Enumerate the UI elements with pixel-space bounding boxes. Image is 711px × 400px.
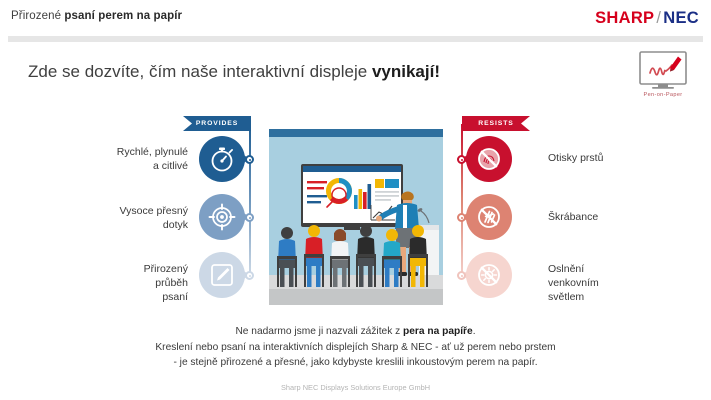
resists-node-3	[457, 271, 466, 280]
page-title: Zde se dozvíte, čím naše interaktivní di…	[28, 62, 440, 82]
provides-icon-pencil	[199, 252, 245, 298]
body-line1-bold: pera na papíře	[403, 326, 473, 337]
body-copy: Ne nadarmo jsme ji nazvali zážitek z per…	[60, 324, 651, 371]
provides-node-2	[245, 213, 254, 222]
label-line: dotyk	[58, 218, 188, 232]
header-divider	[8, 36, 703, 42]
provides-connector-rail	[249, 124, 251, 276]
fingerprint-blocked-icon	[475, 145, 503, 173]
scratches-blocked-icon	[475, 203, 503, 231]
nec-wordmark: NEC	[663, 9, 699, 27]
sun-glare-blocked-icon	[475, 261, 503, 289]
label-line: a citlivé	[58, 159, 188, 173]
label-line: Otisky prstů	[548, 151, 678, 165]
label-line: Rychlé, plynulé	[58, 145, 188, 159]
pencil-square-icon	[208, 261, 236, 289]
pen-on-paper-badge: Pen-on-Paper	[624, 49, 702, 105]
provides-label-writing: Přirozený průběh psaní	[58, 262, 188, 304]
slide-canvas: Přirozené psaní perem na papír SHARP/NEC…	[0, 0, 711, 400]
label-line: průběh	[58, 276, 188, 290]
resists-node-1	[457, 155, 466, 164]
classroom-presentation-illustration	[269, 129, 443, 305]
resists-label-glare: Oslnění venkovním světlem	[548, 262, 678, 304]
header-title: Přirozené psaní perem na papír	[11, 10, 182, 22]
label-line: světlem	[548, 290, 678, 304]
provides-banner: PROVIDES	[183, 116, 251, 131]
target-icon	[208, 203, 236, 231]
label-line: Vysoce přesný	[58, 204, 188, 218]
resists-icon-scratches	[466, 194, 512, 240]
resists-connector-rail	[461, 124, 463, 276]
sharp-nec-logo: SHARP/NEC	[595, 9, 699, 28]
resists-node-2	[457, 213, 466, 222]
label-line: venkovním	[548, 276, 678, 290]
resists-icon-glare	[466, 252, 512, 298]
body-line1-tail: .	[473, 326, 476, 337]
resists-label-fingerprints: Otisky prstů	[548, 151, 678, 165]
label-line: psaní	[58, 290, 188, 304]
provides-node-1	[245, 155, 254, 164]
provides-icon-stopwatch	[199, 136, 245, 182]
body-line1-normal: Ne nadarmo jsme ji nazvali zážitek z	[235, 326, 403, 337]
resists-label-scratches: Škrábance	[548, 210, 678, 224]
resists-icon-fingerprint	[466, 136, 512, 182]
sharp-wordmark: SHARP	[595, 9, 654, 27]
provides-banner-label: PROVIDES	[196, 120, 238, 127]
logo-separator: /	[654, 9, 663, 27]
stopwatch-icon	[208, 145, 236, 173]
label-line: Škrábance	[548, 210, 678, 224]
provides-label-accuracy: Vysoce přesný dotyk	[58, 204, 188, 232]
pen-on-paper-caption: Pen-on-Paper	[624, 92, 702, 98]
provides-icon-target	[199, 194, 245, 240]
resists-banner-label: RESISTS	[478, 120, 513, 127]
header-title-bold: psaní perem na papír	[64, 10, 182, 22]
body-copy-line-2: Kreslení nebo psaní na interaktivních di…	[60, 340, 651, 356]
page-title-bold: vynikají!	[372, 62, 440, 81]
header-title-normal: Přirozené	[11, 10, 64, 22]
provides-node-3	[245, 271, 254, 280]
resists-banner: RESISTS	[462, 116, 530, 131]
body-copy-line-3: - je stejně přirozené a přesné, jako kdy…	[60, 355, 651, 371]
pen-on-paper-icon	[624, 49, 702, 93]
label-line: Oslnění	[548, 262, 678, 276]
provides-label-speed: Rychlé, plynulé a citlivé	[58, 145, 188, 173]
label-line: Přirozený	[58, 262, 188, 276]
page-title-normal: Zde se dozvíte, čím naše interaktivní di…	[28, 62, 372, 81]
body-copy-line-1: Ne nadarmo jsme ji nazvali zážitek z per…	[60, 324, 651, 340]
footer-company-name: Sharp NEC Displays Solutions Europe GmbH	[0, 383, 711, 392]
